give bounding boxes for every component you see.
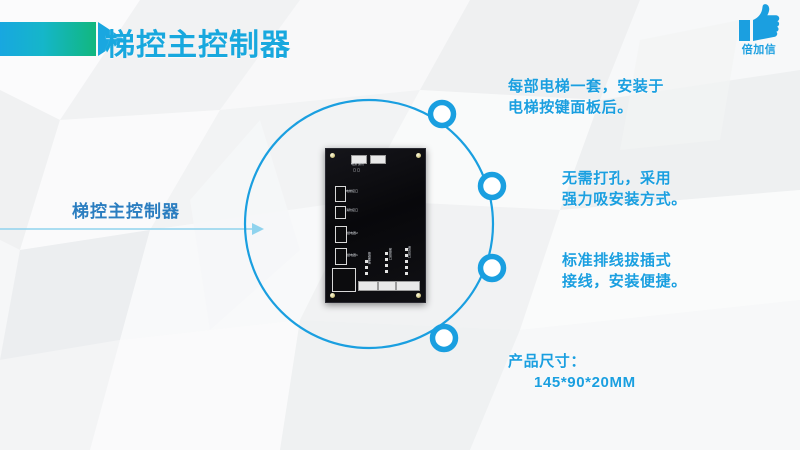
- pcb-silk-label: 梯控接口: [388, 248, 391, 276]
- slide-root: 梯控主控制器 倍加信 梯控主控制器: [0, 0, 800, 450]
- pcb-connector: [335, 248, 347, 265]
- pcb-silk-label: 继电器2: [347, 232, 358, 235]
- callout-wiring: 标准排线拔插式 接线，安装便捷。: [562, 250, 687, 292]
- callout-installation: 每部电梯一套，安装于 电梯按键面板后。: [508, 76, 664, 118]
- header-accent-bar: [0, 22, 96, 56]
- pcb-silk-label: 口 口: [353, 169, 360, 172]
- pcb-screw-hole: [330, 293, 335, 298]
- pcb-pin: [365, 266, 368, 269]
- ring-marker-3: [481, 257, 504, 280]
- pcb-pin: [405, 266, 408, 269]
- pcb-silk-label: 继电器1: [347, 254, 358, 257]
- pcb-pin: [405, 248, 408, 251]
- brand-logo-text: 倍加信: [726, 41, 792, 57]
- pcb-pin: [405, 272, 408, 275]
- pcb-header: [378, 281, 396, 291]
- callout-dimensions: 产品尺寸： 145*90*20MM: [508, 330, 636, 414]
- pcb-silk-label: 消防接口: [346, 209, 358, 212]
- pcb-silk-label: 电源 通讯: [351, 163, 364, 166]
- dimensions-value: 145*90*20MM: [534, 372, 636, 393]
- brand-logo: 倍加信: [726, 4, 792, 62]
- pcb-screw-hole: [416, 153, 421, 158]
- pcb-screw-hole: [330, 153, 335, 158]
- product-image-elevator-controller-pcb: 电源 通讯 口 口 电梯接口 消防接口 继电器2 继电器1 按键面板 梯控接口 …: [325, 148, 426, 303]
- pcb-pin: [385, 264, 388, 267]
- pcb-module: [332, 268, 356, 292]
- pcb-pin: [405, 254, 408, 257]
- ring-marker-4: [433, 327, 456, 350]
- pcb-header: [358, 281, 378, 291]
- dimensions-label: 产品尺寸：: [508, 353, 586, 370]
- ring-marker-2: [481, 175, 504, 198]
- pcb-pin: [365, 272, 368, 275]
- pcb-connector: [335, 226, 347, 243]
- pcb-header: [396, 281, 420, 291]
- thumbs-up-icon: [737, 4, 781, 42]
- pcb-silk-label: 电梯接口: [346, 190, 358, 193]
- pcb-connector: [335, 186, 346, 202]
- pcb-pin: [385, 258, 388, 261]
- pcb-pin: [385, 252, 388, 255]
- pcb-pin: [365, 260, 368, 263]
- pcb-pin: [385, 270, 388, 273]
- pcb-pin: [405, 260, 408, 263]
- pcb-header: [370, 155, 386, 164]
- pointer-arrow-icon: [0, 218, 270, 240]
- pcb-screw-hole: [416, 293, 421, 298]
- pcb-connector: [335, 206, 346, 219]
- page-title: 梯控主控制器: [105, 20, 291, 64]
- callout-mounting: 无需打孔，采用 强力吸安装方式。: [562, 168, 687, 210]
- ring-marker-1: [431, 103, 454, 126]
